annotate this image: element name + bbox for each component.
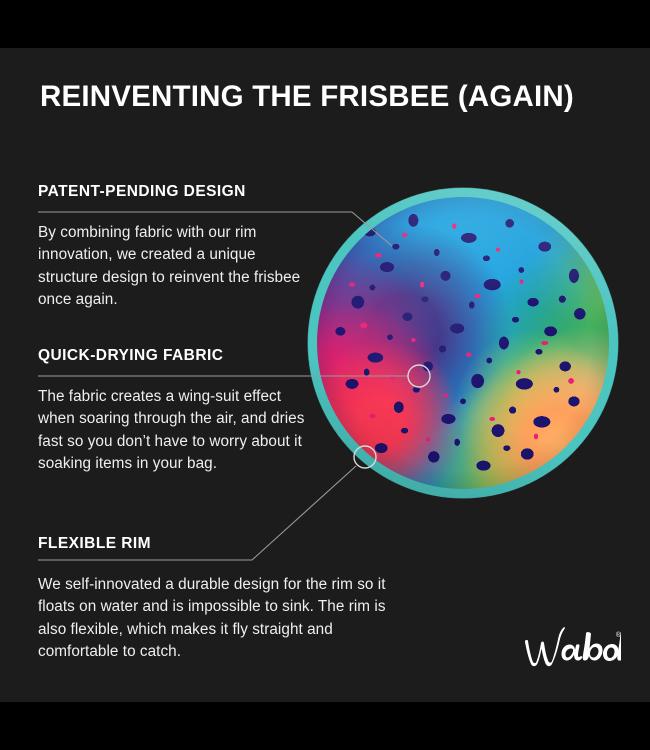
magenta-flecks: [317, 197, 609, 489]
product-infographic: REINVENTING THE FRISBEE (AGAIN) PATENT-P…: [0, 0, 650, 750]
section-body-flexible-rim: We self-innovated a durable design for t…: [38, 574, 390, 664]
section-heading-patent-pending-design: PATENT-PENDING DESIGN: [38, 183, 246, 201]
registered-trademark-symbol: ®: [616, 632, 621, 639]
frisbee-disc-photo: [308, 188, 618, 498]
letterbox-top: [0, 0, 650, 48]
section-body-quick-drying-fabric: The fabric creates a wing-suit effect wh…: [38, 386, 320, 476]
letterbox-bottom: [0, 702, 650, 750]
section-heading-flexible-rim: FLEXIBLE RIM: [38, 535, 151, 553]
disc-fabric-face: [317, 197, 609, 489]
page-title: REINVENTING THE FRISBEE (AGAIN): [40, 82, 620, 113]
waboba-logo: ®: [523, 626, 621, 670]
section-heading-quick-drying-fabric: QUICK-DRYING FABRIC: [38, 347, 223, 365]
disc-rim: [308, 188, 618, 498]
waboba-wordmark-icon: [523, 626, 621, 670]
section-body-patent-pending-design: By combining fabric with our rim innovat…: [38, 222, 316, 312]
